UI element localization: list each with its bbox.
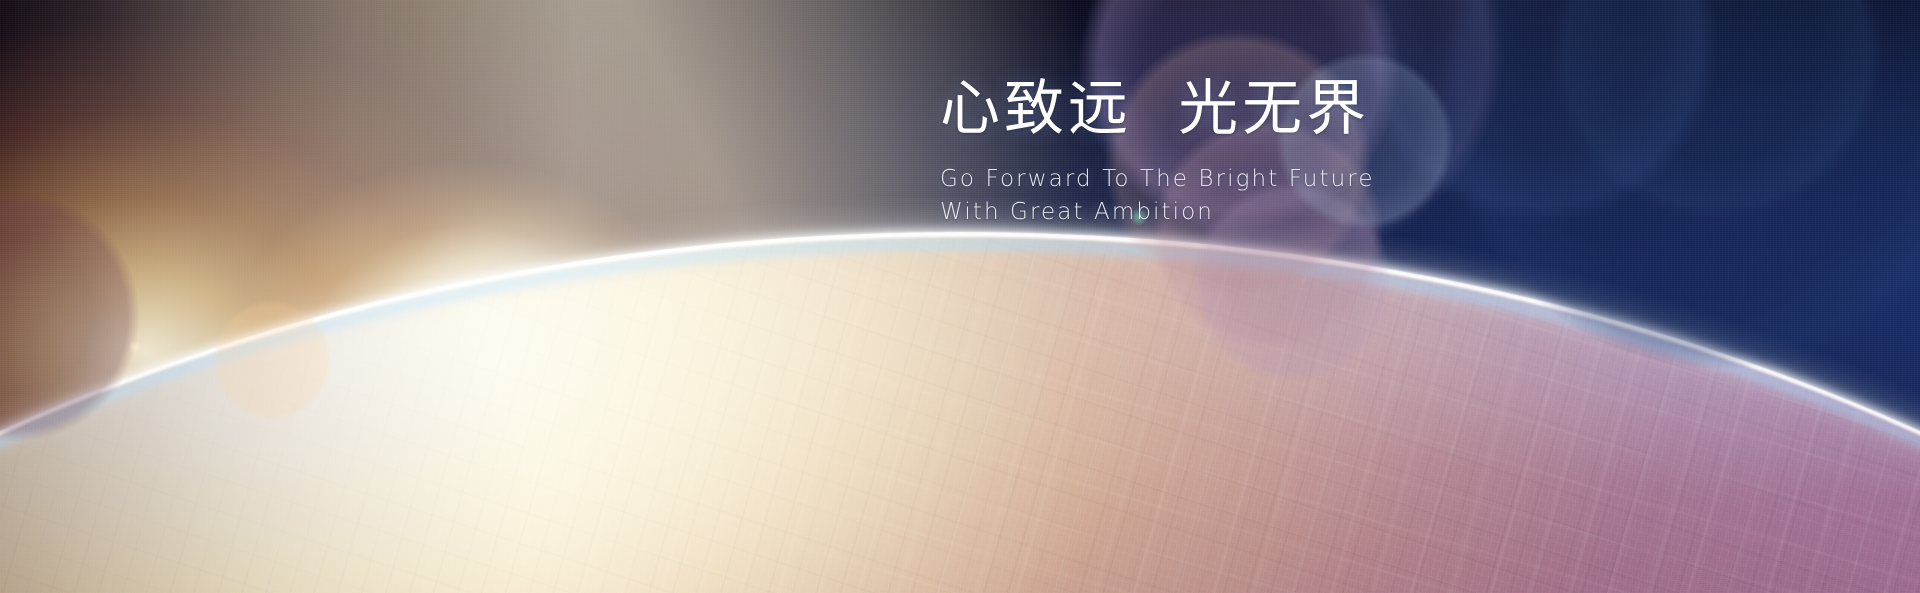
earth-shadow-left [0,232,1920,593]
bokeh-circle-9 [1552,0,1882,220]
hero-banner: 心致远 光无界 Go Forward To The Bright Future … [0,0,1920,593]
earth-globe [0,232,1920,593]
flare-speck-warm-icon [128,340,142,354]
hero-copy-block: 心致远 光无界 Go Forward To The Bright Future … [940,78,1500,228]
hero-subtitle-line-1: Go Forward To The Bright Future [940,164,1500,195]
hero-subtitle-line-2: With Great Ambition [940,197,1500,228]
page-title: 心致远 光无界 [940,78,1500,142]
